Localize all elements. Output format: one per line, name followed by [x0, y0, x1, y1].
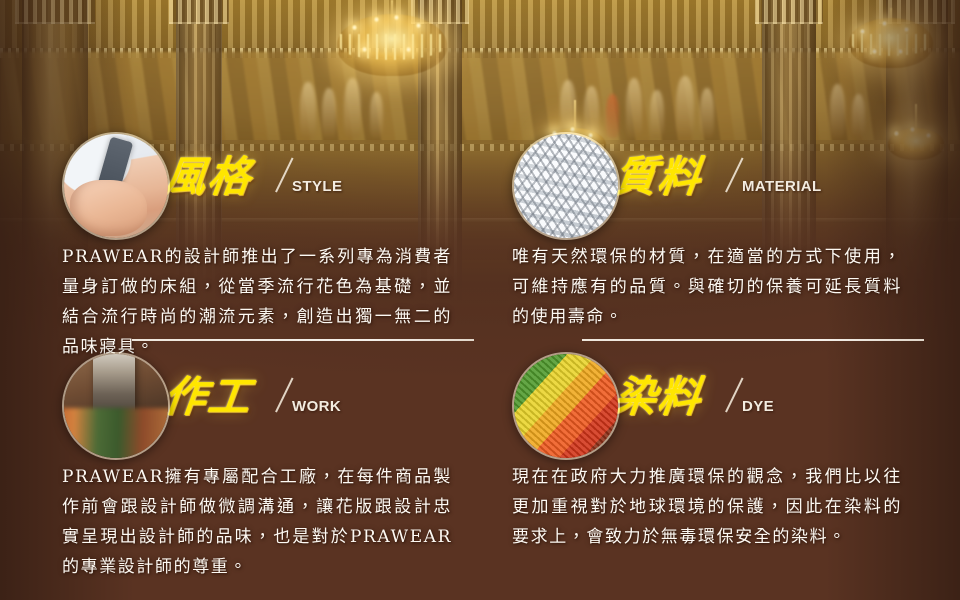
dye-title-en: DYE [742, 398, 774, 415]
work-thumbnail[interactable] [62, 352, 170, 460]
feature-header-dye: 染料 DYE [512, 352, 960, 460]
feature-card-work: 作工 WORK PRAWEAR擁有專屬配合工廠，在每件商品製作前會跟設計師做微調… [62, 352, 512, 587]
section-divider-right [582, 339, 924, 341]
material-title-en: MATERIAL [742, 178, 822, 195]
feature-card-dye: 染料 DYE 現在在政府大力推廣環保的觀念，我們比以往更加重視對於地球環境的保護… [512, 352, 960, 587]
material-title-row: 質料 MATERIAL [614, 154, 822, 198]
dye-thumbnail[interactable] [512, 352, 620, 460]
feature-header-material: 質料 MATERIAL [512, 132, 960, 240]
slash-divider-icon [710, 374, 740, 414]
dye-title-cn: 染料 [611, 376, 704, 418]
dye-body-text: 現在在政府大力推廣環保的觀念，我們比以往更加重視對於地球環境的保護，因此在染料的… [512, 462, 902, 552]
hand-sketching-pencil-icon [64, 134, 168, 238]
material-body-text: 唯有天然環保的材質，在適當的方式下使用，可維持應有的品質。與確切的保養可延長質料… [512, 242, 902, 332]
colored-dye-threads-icon [514, 354, 618, 458]
sewing-machine-icon [64, 354, 168, 458]
work-title-row: 作工 WORK [164, 374, 341, 418]
work-body-text: PRAWEAR擁有專屬配合工廠，在每件商品製作前會跟設計師做微調溝通，讓花版跟設… [62, 462, 452, 582]
slash-divider-icon [260, 374, 290, 414]
style-title-row: 風格 STYLE [164, 154, 342, 198]
feature-card-style: 風格 STYLE PRAWEAR的設計師推出了一系列專為消費者量身訂做的床組，從… [62, 132, 512, 352]
dye-title-row: 染料 DYE [614, 374, 774, 418]
feature-header-style: 風格 STYLE [62, 132, 512, 240]
slash-divider-icon [260, 154, 290, 194]
style-thumbnail[interactable] [62, 132, 170, 240]
work-title-cn: 作工 [161, 376, 254, 418]
style-title-en: STYLE [292, 178, 342, 195]
material-thumbnail[interactable] [512, 132, 620, 240]
white-textured-fabric-icon [514, 134, 618, 238]
feature-grid: 風格 STYLE PRAWEAR的設計師推出了一系列專為消費者量身訂做的床組，從… [0, 0, 960, 600]
material-title-cn: 質料 [611, 156, 704, 198]
style-title-cn: 風格 [161, 156, 254, 198]
slash-divider-icon [710, 154, 740, 194]
section-divider-left [132, 339, 474, 341]
brand-feature-banner: 風格 STYLE PRAWEAR的設計師推出了一系列專為消費者量身訂做的床組，從… [0, 0, 960, 600]
feature-card-material: 質料 MATERIAL 唯有天然環保的材質，在適當的方式下使用，可維持應有的品質… [512, 132, 960, 352]
style-body-text: PRAWEAR的設計師推出了一系列專為消費者量身訂做的床組，從當季流行花色為基礎… [62, 242, 452, 362]
feature-header-work: 作工 WORK [62, 352, 512, 460]
work-title-en: WORK [292, 398, 341, 415]
